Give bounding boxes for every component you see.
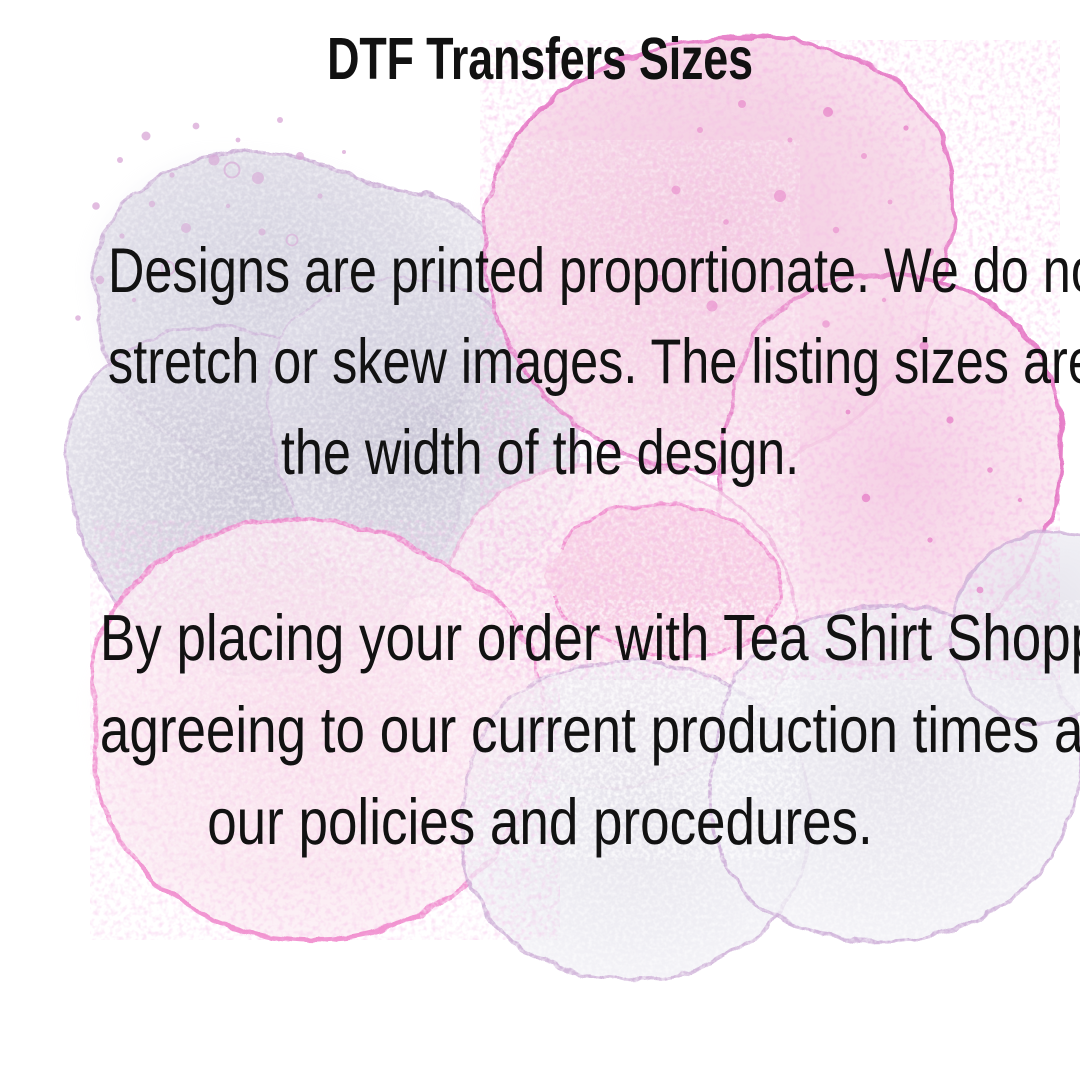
paragraph-line: the width of the design. [108,408,972,499]
text-layer: DTF Transfers Sizes Designs are printed … [0,0,1080,1080]
poster-canvas: DTF Transfers Sizes Designs are printed … [0,0,1080,1080]
paragraph-order-agreement: By placing your order with Tea Shirt Sho… [0,592,1080,868]
paragraph-line: By placing your order with Tea Shirt Sho… [100,592,980,684]
page-title: DTF Transfers Sizes [130,27,951,91]
paragraph-line: our policies and procedures. [100,776,980,868]
paragraph-printing-policy: Designs are printed proportionate. We do… [0,226,1080,499]
paragraph-line: Designs are printed proportionate. We do… [108,226,972,317]
paragraph-line: agreeing to our current production times… [100,684,980,776]
paragraph-line: stretch or skew images. The listing size… [108,317,972,408]
